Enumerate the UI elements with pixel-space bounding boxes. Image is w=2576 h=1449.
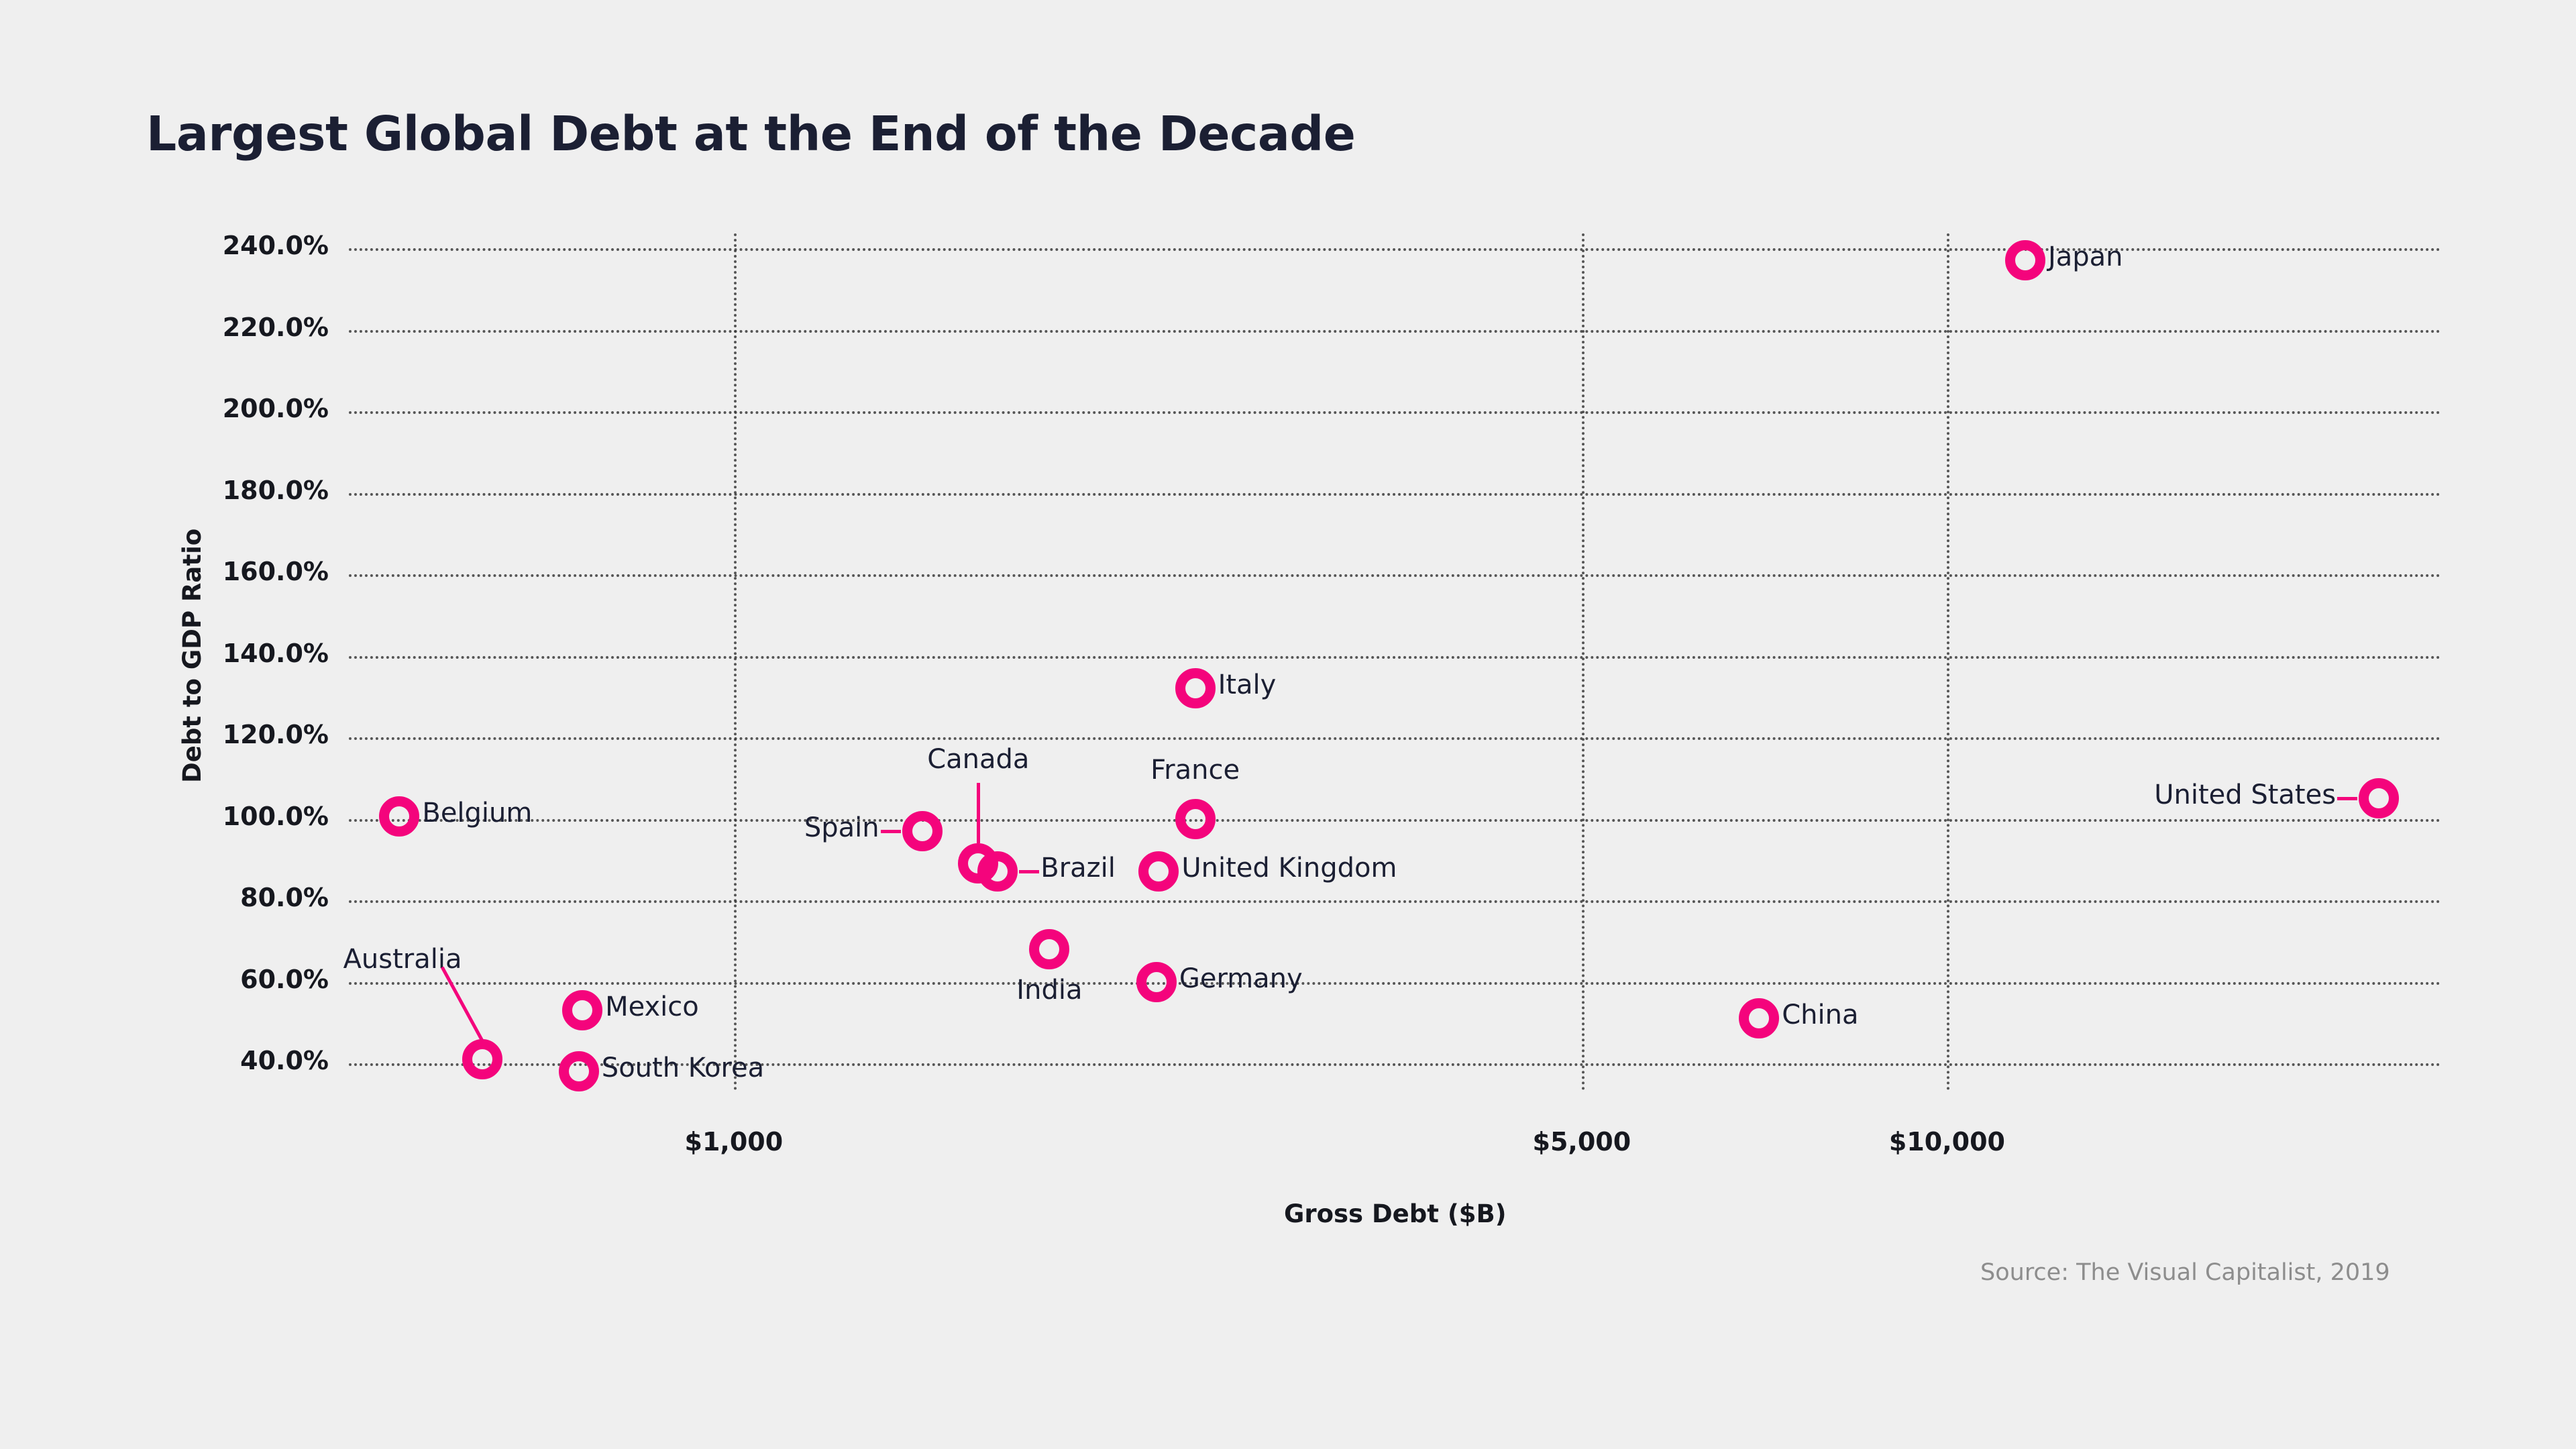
x-tick-label: $1,000	[685, 1127, 784, 1157]
point-label: India	[1016, 975, 1082, 1006]
scatter-marker[interactable]	[559, 1051, 599, 1091]
horizontal-gridline	[349, 656, 2442, 659]
scatter-marker[interactable]	[2359, 778, 2399, 818]
scatter-marker[interactable]	[1739, 998, 1779, 1038]
leader-line	[440, 966, 483, 1041]
x-tick-label: $10,000	[1889, 1127, 2005, 1157]
point-label: United States	[2154, 780, 2336, 810]
x-tick-label: $5,000	[1533, 1127, 1631, 1157]
chart-canvas: Largest Global Debt at the End of the De…	[0, 0, 2576, 1449]
y-tick-label: 120.0%	[223, 720, 329, 749]
scatter-marker[interactable]	[2005, 240, 2045, 280]
source-note: Source: The Visual Capitalist, 2019	[1980, 1259, 2390, 1286]
x-axis-title: Gross Debt ($B)	[1284, 1199, 1507, 1228]
point-label: Brazil	[1040, 853, 1116, 883]
point-label: France	[1150, 755, 1240, 786]
y-tick-label: 100.0%	[223, 802, 329, 831]
y-tick-label: 140.0%	[223, 639, 329, 668]
leader-line	[1019, 870, 1039, 873]
leader-line	[881, 830, 901, 833]
scatter-marker[interactable]	[1175, 799, 1216, 839]
horizontal-gridline	[349, 493, 2442, 496]
point-label: Germany	[1179, 963, 1303, 994]
point-label: Canada	[927, 744, 1029, 775]
scatter-marker[interactable]	[902, 811, 943, 851]
vertical-gridline	[1947, 233, 1949, 1091]
point-label: United Kingdom	[1181, 853, 1397, 883]
y-axis-title: Debt to GDP Ratio	[178, 528, 207, 782]
y-tick-label: 40.0%	[240, 1046, 329, 1075]
scatter-marker[interactable]	[1136, 962, 1177, 1002]
horizontal-gridline	[349, 737, 2442, 740]
scatter-marker[interactable]	[977, 851, 1018, 892]
point-label: Mexico	[605, 991, 699, 1022]
page-title: Largest Global Debt at the End of the De…	[146, 106, 1356, 162]
point-label: Spain	[804, 812, 879, 843]
horizontal-gridline	[349, 900, 2442, 903]
y-tick-label: 180.0%	[223, 476, 329, 505]
leader-line	[977, 783, 980, 843]
scatter-marker[interactable]	[1138, 851, 1179, 892]
point-label: Italy	[1218, 669, 1277, 700]
scatter-marker[interactable]	[1175, 668, 1216, 708]
point-label: Belgium	[422, 798, 532, 828]
vertical-gridline	[734, 233, 737, 1091]
y-tick-label: 60.0%	[240, 965, 329, 994]
y-tick-label: 240.0%	[223, 231, 329, 260]
horizontal-gridline	[349, 411, 2442, 414]
point-label: Japan	[2048, 241, 2123, 272]
point-label: South Korea	[602, 1053, 764, 1083]
leader-line	[2337, 797, 2357, 800]
horizontal-gridline	[349, 248, 2442, 251]
horizontal-gridline	[349, 819, 2442, 822]
horizontal-gridline	[349, 982, 2442, 985]
horizontal-gridline	[349, 574, 2442, 577]
y-tick-label: 160.0%	[223, 557, 329, 586]
vertical-gridline	[1582, 233, 1585, 1091]
y-tick-label: 220.0%	[223, 313, 329, 342]
horizontal-gridline	[349, 330, 2442, 333]
point-label: China	[1782, 1000, 1858, 1030]
scatter-marker[interactable]	[462, 1039, 502, 1079]
y-tick-label: 200.0%	[223, 394, 329, 423]
scatter-marker[interactable]	[562, 990, 602, 1030]
scatter-marker[interactable]	[379, 796, 419, 837]
y-tick-label: 80.0%	[240, 883, 329, 912]
scatter-marker[interactable]	[1029, 929, 1069, 969]
